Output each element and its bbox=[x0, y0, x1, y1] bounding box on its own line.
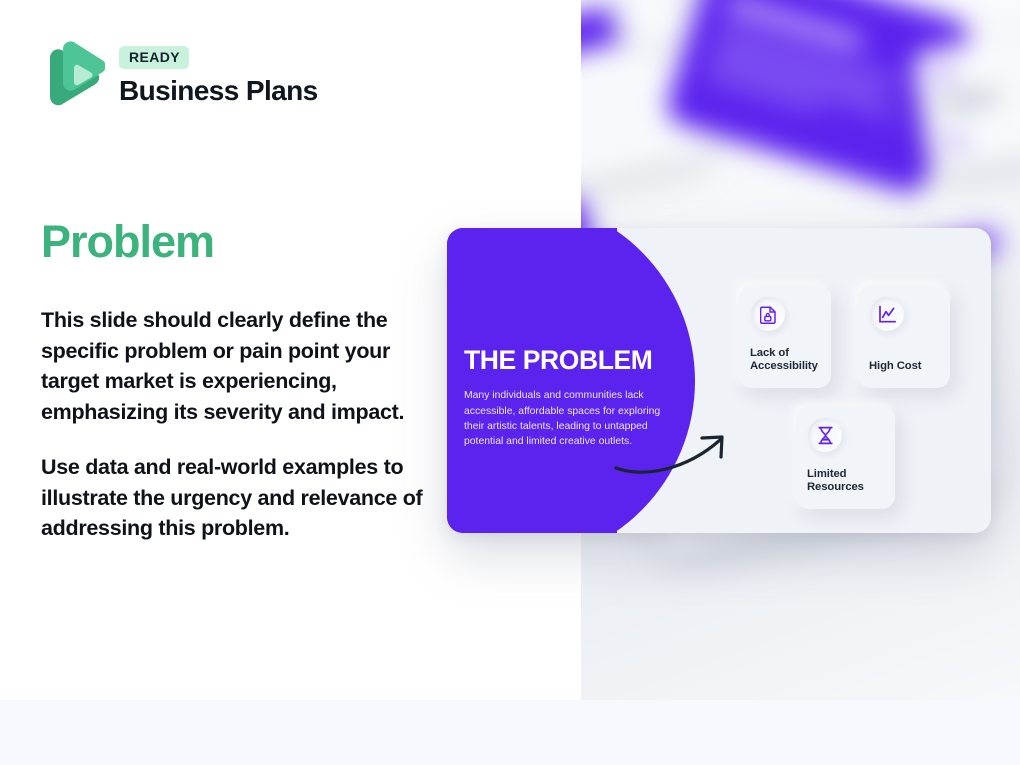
slide-preview-canvas: READY Business Plans Problem This slide … bbox=[0, 0, 1020, 765]
brand-lockup: READY Business Plans bbox=[41, 40, 318, 110]
line-chart-icon bbox=[870, 297, 904, 331]
brand-text-block: READY Business Plans bbox=[119, 40, 318, 106]
body-paragraph-1: This slide should clearly define the spe… bbox=[41, 305, 426, 428]
feature-card-lack-of-accessibility[interactable]: Lack of Accessibility bbox=[739, 285, 831, 388]
feature-card-high-cost[interactable]: High Cost bbox=[858, 285, 950, 388]
background-text-line bbox=[938, 90, 999, 111]
body-copy: This slide should clearly define the spe… bbox=[41, 305, 426, 544]
play-triangle-logo-icon bbox=[41, 40, 105, 110]
background-text-line bbox=[726, 0, 863, 49]
brand-name: Business Plans bbox=[119, 76, 318, 105]
feature-card-label: Limited Resources bbox=[807, 468, 895, 495]
background-card bbox=[913, 29, 1020, 171]
locked-document-icon bbox=[751, 297, 785, 331]
bottom-strip-left bbox=[0, 700, 581, 765]
body-paragraph-2: Use data and real-world examples to illu… bbox=[41, 452, 426, 544]
ready-badge: READY bbox=[119, 46, 189, 69]
feature-card-limited-resources[interactable]: Limited Resources bbox=[796, 406, 895, 509]
slide-thumbnail-card[interactable]: THE PROBLEM Many individuals and communi… bbox=[447, 228, 991, 533]
slide-title: THE PROBLEM bbox=[464, 346, 692, 375]
curved-arrow-up-right-icon bbox=[612, 418, 742, 478]
feature-card-label: Lack of Accessibility bbox=[750, 347, 838, 374]
background-dot bbox=[935, 65, 953, 83]
background-dot bbox=[948, 134, 964, 150]
page-title: Problem bbox=[41, 216, 214, 268]
hourglass-icon bbox=[808, 418, 842, 452]
feature-card-label: High Cost bbox=[869, 360, 957, 374]
